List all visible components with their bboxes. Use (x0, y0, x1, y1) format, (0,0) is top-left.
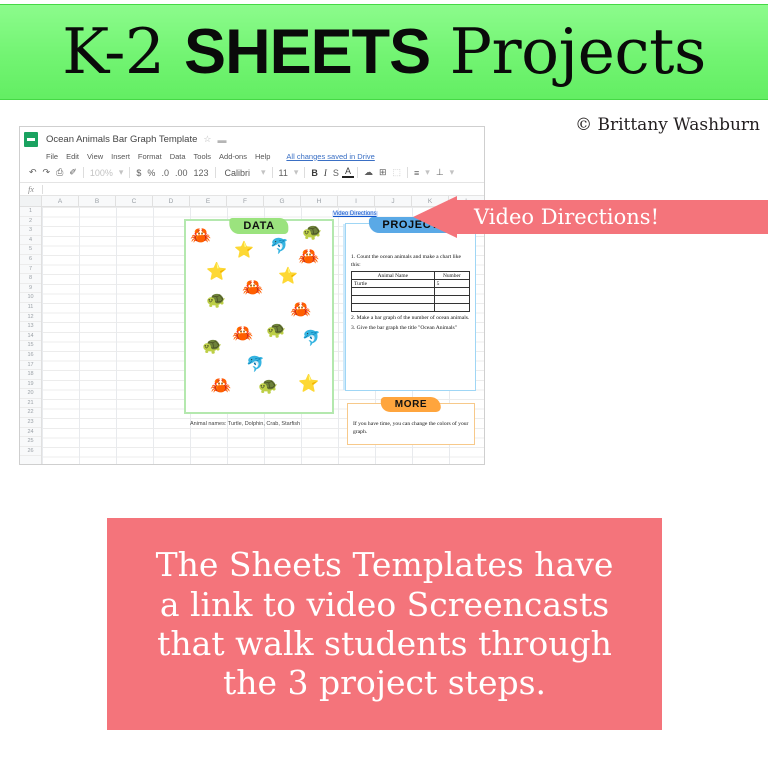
increase-decimal-icon[interactable]: .00 (172, 168, 191, 178)
page-title: K-2 SHEETS Projects (62, 20, 706, 84)
table-row: Turtle 5 (352, 280, 470, 288)
column-header-e[interactable]: E (190, 196, 227, 206)
table-cell-animal (352, 296, 435, 304)
row-header-2[interactable]: 2 (20, 217, 41, 227)
table-cell-animal: Turtle (352, 280, 435, 288)
description-line-2: a link to video Screencasts (160, 585, 609, 624)
star-icon[interactable]: ☆ (203, 134, 211, 145)
more-panel: MORE If you have time, you can change th… (347, 403, 475, 445)
folder-icon[interactable]: ▬ (217, 135, 226, 145)
select-all-corner[interactable] (20, 196, 42, 206)
row-header-4[interactable]: 4 (20, 236, 41, 246)
font-size-caret-icon[interactable]: ▾ (291, 167, 302, 178)
toolbar-divider (129, 167, 130, 178)
table-cell-number: 5 (434, 280, 469, 288)
ocean-animal-icon: 🐢 (202, 339, 222, 355)
table-header-number: Number (434, 272, 469, 280)
video-directions-callout: Video Directions! (413, 196, 768, 238)
formula-divider (42, 185, 43, 194)
row-header-5[interactable]: 5 (20, 245, 41, 255)
menu-item-data[interactable]: Data (170, 152, 186, 161)
column-header-d[interactable]: D (153, 196, 190, 206)
toolbar-divider (407, 167, 408, 178)
title-part-1: K-2 (62, 15, 184, 88)
row-header-25[interactable]: 25 (20, 437, 41, 447)
ocean-animal-icon: 🐢 (302, 225, 322, 241)
toolbar-divider (215, 167, 216, 178)
arrow-head-icon (413, 196, 457, 238)
menu-item-help[interactable]: Help (255, 152, 270, 161)
ocean-animal-icon: ⭐ (206, 263, 227, 280)
fx-label: fx (20, 185, 42, 194)
menu-item-addons[interactable]: Add-ons (219, 152, 247, 161)
italic-icon[interactable]: I (321, 168, 330, 178)
project-panel: PROJECT 1. Count the ocean animals and m… (345, 223, 476, 391)
row-header-19[interactable]: 19 (20, 380, 41, 390)
poster-page: K-2 SHEETS Projects © Brittany Washburn … (0, 0, 768, 768)
toolbar-divider (272, 167, 273, 178)
more-banner-label: MORE (381, 397, 441, 412)
document-title[interactable]: Ocean Animals Bar Graph Template (46, 134, 197, 145)
font-family-select[interactable]: Calibri (219, 168, 259, 178)
more-formats-icon[interactable]: 123 (190, 168, 211, 178)
row-header-14[interactable]: 14 (20, 332, 41, 342)
halign-caret-icon[interactable]: ▾ (422, 167, 433, 178)
ocean-animal-icon: 🦀 (290, 301, 311, 318)
zoom-level-select[interactable]: 100% (87, 168, 116, 178)
column-header-a[interactable]: A (42, 196, 79, 206)
menu-item-view[interactable]: View (87, 152, 103, 161)
description-box: The Sheets Templates have a link to vide… (107, 518, 662, 730)
menu-item-tools[interactable]: Tools (194, 152, 212, 161)
ocean-animal-icon: ⭐ (234, 243, 254, 259)
ocean-animal-icon: 🦀 (190, 227, 211, 244)
vertical-align-icon[interactable]: ⊥ (433, 167, 447, 178)
column-header-i[interactable]: I (338, 196, 375, 206)
column-header-b[interactable]: B (79, 196, 116, 206)
ocean-animal-icon: 🦀 (232, 325, 253, 342)
ocean-animal-icon: 🐬 (302, 331, 321, 346)
strikethrough-icon[interactable]: S (330, 168, 342, 178)
bold-icon[interactable]: B (308, 168, 321, 178)
row-header-15[interactable]: 15 (20, 341, 41, 351)
table-cell-animal (352, 288, 435, 296)
column-header-g[interactable]: G (264, 196, 301, 206)
arrow-body: Video Directions! (456, 200, 768, 234)
project-body: 1. Count the ocean animals and make a ch… (351, 254, 470, 334)
menu-item-file[interactable]: File (46, 152, 58, 161)
table-row (352, 304, 470, 312)
menu-item-insert[interactable]: Insert (111, 152, 130, 161)
row-header-24[interactable]: 24 (20, 428, 41, 438)
sheets-titlebar: Ocean Animals Bar Graph Template ☆ ▬ (20, 127, 484, 149)
ocean-animal-icon: ⭐ (278, 269, 298, 285)
ocean-animal-icon: 🐢 (266, 323, 286, 339)
ocean-animal-icon: 🦀 (242, 279, 263, 296)
table-header-animal-name: Animal Name (352, 272, 435, 280)
undo-icon[interactable]: ↶ (26, 167, 40, 178)
row-header-26[interactable]: 26 (20, 447, 41, 457)
sheets-logo-icon (24, 132, 38, 147)
row-header-8[interactable]: 8 (20, 274, 41, 284)
ocean-animal-icon: 🐬 (270, 239, 289, 254)
text-color-icon[interactable]: A (342, 167, 354, 178)
row-header-18[interactable]: 18 (20, 370, 41, 380)
font-size-select[interactable]: 11 (276, 168, 291, 178)
ocean-animal-icon: 🦀 (210, 377, 231, 394)
table-row (352, 296, 470, 304)
header-banner: K-2 SHEETS Projects (0, 4, 768, 100)
fill-color-icon[interactable]: ☁ (361, 167, 376, 178)
row-header-21[interactable]: 21 (20, 399, 41, 409)
more-panel-text: If you have time, you can change the col… (353, 421, 469, 436)
table-cell-animal (352, 304, 435, 312)
row-header-13[interactable]: 13 (20, 322, 41, 332)
menu-bar: File Edit View Insert Format Data Tools … (20, 149, 484, 163)
row-header-17[interactable]: 17 (20, 361, 41, 371)
grid-body: 1234567891011121314151617181920212223242… (20, 207, 485, 464)
save-status-label[interactable]: All changes saved in Drive (286, 152, 374, 161)
formula-bar[interactable]: fx (20, 183, 484, 196)
table-cell-number (434, 296, 469, 304)
ocean-animal-icon: 🐬 (246, 357, 265, 372)
zoom-caret-icon[interactable]: ▾ (116, 167, 127, 178)
title-bold-sheets: SHEETS (184, 17, 430, 87)
column-header-c[interactable]: C (116, 196, 153, 206)
animal-count-table: Animal Name Number Turtle 5 (351, 271, 470, 312)
row-header-23[interactable]: 23 (20, 418, 41, 428)
row-header-12[interactable]: 12 (20, 313, 41, 323)
column-header-j[interactable]: J (375, 196, 412, 206)
table-row (352, 288, 470, 296)
horizontal-align-icon[interactable]: ≡ (411, 168, 422, 178)
row-header-7[interactable]: 7 (20, 265, 41, 275)
column-header-f[interactable]: F (227, 196, 264, 206)
description-line-3: that walk students through (157, 624, 612, 663)
ocean-animal-icon: 🐢 (206, 293, 226, 309)
currency-format-icon[interactable]: $ (133, 168, 144, 178)
toolbar-divider (357, 167, 358, 178)
menu-item-edit[interactable]: Edit (66, 152, 79, 161)
toolbar-divider (83, 167, 84, 178)
project-step-2: 2. Make a bar graph of the number of oce… (351, 315, 470, 323)
row-header-9[interactable]: 9 (20, 284, 41, 294)
row-header-20[interactable]: 20 (20, 389, 41, 399)
table-cell-number (434, 304, 469, 312)
column-header-h[interactable]: H (301, 196, 338, 206)
redo-icon[interactable]: ↷ (40, 167, 54, 178)
font-caret-icon[interactable]: ▾ (258, 167, 269, 178)
valign-caret-icon[interactable]: ▾ (447, 167, 458, 178)
title-part-2: Projects (430, 15, 706, 88)
ocean-animal-icon: ⭐ (298, 375, 319, 392)
row-header-16[interactable]: 16 (20, 351, 41, 361)
ocean-animal-icon: 🦀 (298, 248, 319, 265)
row-header-6[interactable]: 6 (20, 255, 41, 265)
copyright-text: © Brittany Washburn (575, 115, 760, 135)
ocean-animals-illustrations: 🦀🐢⭐🐬🦀⭐⭐🦀🐢🦀🦀🐢🐬🐢🐬🦀🐢⭐ (186, 221, 332, 412)
description-line-1: The Sheets Templates have (156, 545, 614, 584)
description-line-4: the 3 project steps. (223, 663, 546, 702)
table-cell-number (434, 288, 469, 296)
row-header-10[interactable]: 10 (20, 293, 41, 303)
cell-area[interactable]: Video Directions DATA 🦀🐢⭐🐬🦀⭐⭐🦀🐢🦀🦀🐢🐬🐢🐬🦀🐢⭐… (42, 207, 485, 464)
ocean-animal-icon: 🐢 (258, 379, 278, 395)
project-step-1: 1. Count the ocean animals and make a ch… (351, 254, 470, 269)
percent-format-icon[interactable]: % (144, 168, 158, 178)
decrease-decimal-icon[interactable]: .0 (158, 168, 172, 178)
row-header-3[interactable]: 3 (20, 226, 41, 236)
row-header-22[interactable]: 22 (20, 408, 41, 418)
row-headers: 1234567891011121314151617181920212223242… (20, 207, 42, 464)
sheets-screenshot: Ocean Animals Bar Graph Template ☆ ▬ Fil… (19, 126, 485, 465)
merge-cells-icon[interactable]: ⬚ (390, 167, 405, 178)
animal-names-caption: Animal names: Turtle, Dolphin, Crab, Sta… (190, 421, 300, 427)
callout-text: Video Directions! (474, 205, 659, 229)
row-header-11[interactable]: 11 (20, 303, 41, 313)
toolbar-divider (304, 167, 305, 178)
print-icon[interactable]: ⎙ (53, 167, 66, 178)
toolbar: ↶ ↷ ⎙ ✐ 100% ▾ $ % .0 .00 123 Calibri ▾ … (20, 163, 484, 183)
data-panel: DATA 🦀🐢⭐🐬🦀⭐⭐🦀🐢🦀🦀🐢🐬🐢🐬🦀🐢⭐ (184, 219, 334, 414)
borders-icon[interactable]: ⊞ (376, 167, 390, 178)
project-step-3: 3. Give the bar graph the title "Ocean A… (351, 325, 470, 333)
paint-format-icon[interactable]: ✐ (66, 167, 80, 178)
row-header-1[interactable]: 1 (20, 207, 41, 217)
menu-item-format[interactable]: Format (138, 152, 162, 161)
table-header-row: Animal Name Number (352, 272, 470, 280)
